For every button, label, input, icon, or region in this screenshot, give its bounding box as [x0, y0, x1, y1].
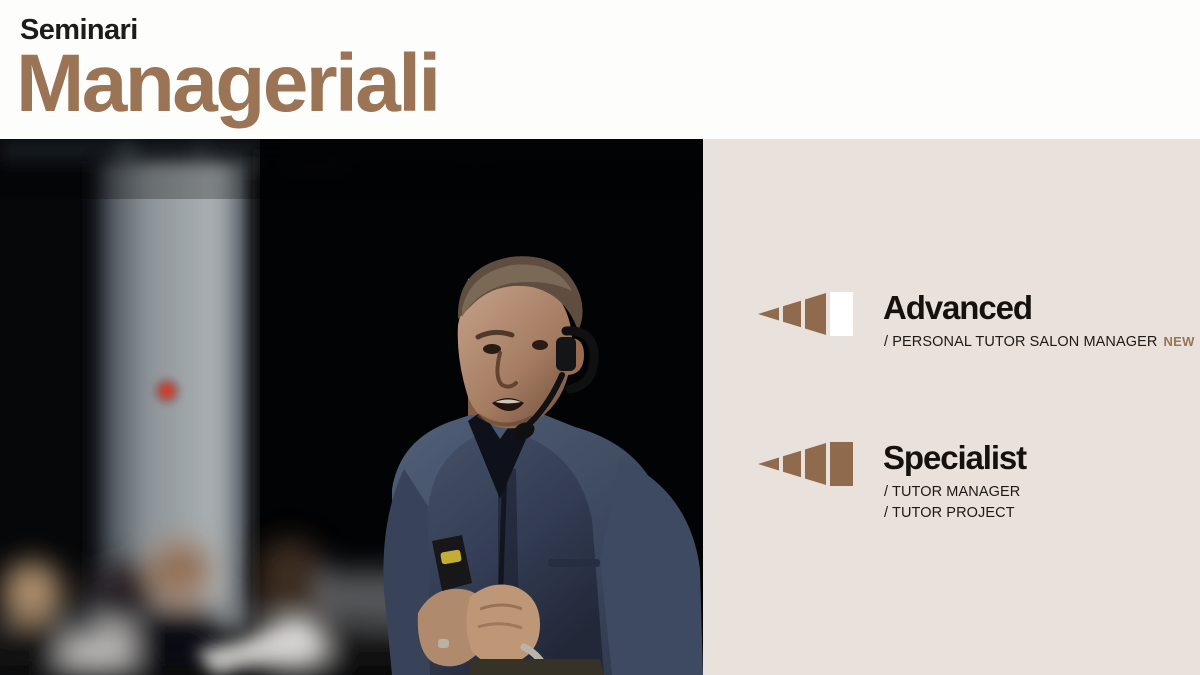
level-courses-advanced: / PERSONAL TUTOR SALON MANAGERNEW [884, 332, 1195, 353]
level-title-advanced: Advanced [883, 288, 1032, 328]
level-title-specialist: Specialist [883, 438, 1026, 478]
chevron-arrow-4of4-icon [758, 442, 856, 486]
status-badge-new: NEW [1163, 334, 1194, 349]
chevron-arrow-3of4-icon [758, 292, 856, 336]
course-item[interactable]: / PERSONAL TUTOR SALON MANAGERNEW [884, 332, 1195, 353]
course-label: / PERSONAL TUTOR SALON MANAGER [884, 334, 1157, 350]
header-bar: Seminari Manageriali [0, 0, 1200, 139]
page-title: Manageriali [16, 43, 439, 125]
course-item[interactable]: / TUTOR MANAGER [884, 482, 1020, 503]
slide-root: Seminari Manageriali [0, 0, 1200, 675]
levels-panel: Advanced / PERSONAL TUTOR SALON MANAGERN… [703, 139, 1200, 675]
course-label: / TUTOR PROJECT [884, 505, 1015, 521]
level-courses-specialist: / TUTOR MANAGER / TUTOR PROJECT [884, 482, 1020, 523]
speaker-photo [0, 139, 703, 675]
course-item[interactable]: / TUTOR PROJECT [884, 503, 1020, 524]
course-label: / TUTOR MANAGER [884, 484, 1020, 500]
